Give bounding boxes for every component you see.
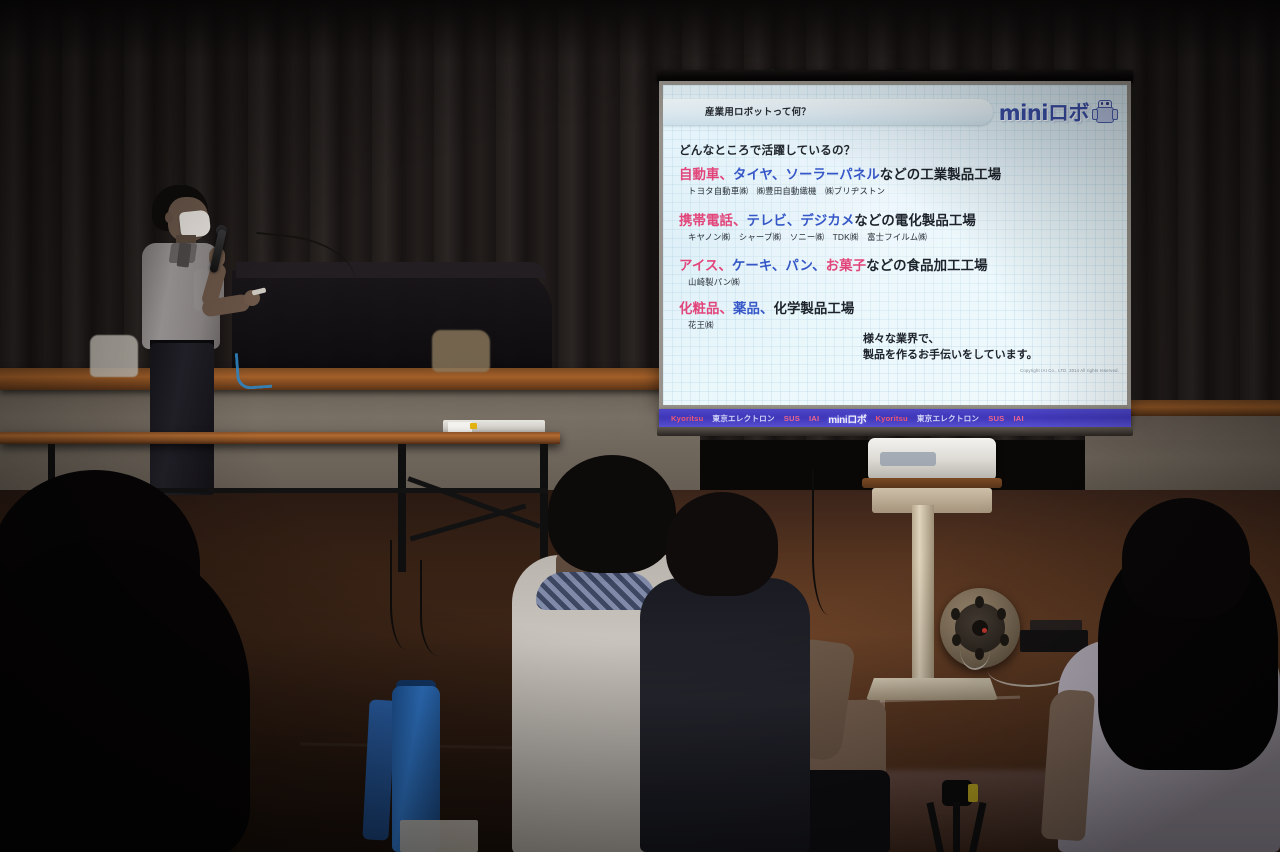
student-head-center-right: [666, 492, 778, 596]
student-neck-towel: [536, 572, 656, 610]
screen-frame: 産業用ロボットって何？ miniロボ どんなところで活躍しているの？: [659, 81, 1131, 409]
slide-closing-note: 様々な業界で、 製品を作るお手伝いをしています。: [863, 332, 1038, 364]
heading-4-dark: 化学製品工場: [773, 301, 854, 316]
heading-1-dark: などの工業製品工場: [880, 167, 1001, 182]
heading-2-red: 携帯電話、: [679, 213, 746, 228]
heading-2-dark: などの電化製品工場: [854, 213, 975, 228]
sponsor-logo-kyoritsu-2: Kyoritsu: [875, 414, 907, 423]
heading-4-red: 化粧品、: [679, 301, 733, 316]
tripod-leg-1: [926, 802, 944, 852]
camera-tripod: [918, 780, 994, 852]
projector-cable: [812, 470, 854, 615]
note-line-1: 様々な業界で、: [863, 332, 1038, 348]
heading-2-blue: テレビ、デジカメ: [746, 213, 854, 228]
sponsor-logo-sus: SUS: [784, 414, 800, 423]
sponsor-logo-iai-2: IAI: [1013, 414, 1023, 423]
heading-3-dark: などの食品加工工場: [866, 258, 987, 273]
student-head-center-left: [548, 455, 676, 573]
tripod-leg-3: [968, 802, 986, 852]
student-shirt-center-right: [640, 578, 810, 852]
floor-cable-left-2: [420, 560, 468, 656]
section-heading-2: 携帯電話、テレビ、デジカメなどの電化製品工場: [679, 209, 976, 229]
projector-lens-panel: [880, 452, 936, 466]
heading-4-blue: 薬品、: [733, 301, 773, 316]
curtain-top-shadow: [0, 0, 1280, 60]
laptop-sticker: [470, 423, 477, 429]
robot-mascot-icon: [1091, 99, 1117, 125]
heading-3-red: アイス、: [679, 258, 732, 273]
projector-stand-column: [912, 505, 934, 690]
laptop-label: [448, 422, 472, 432]
white-power-cable-2: [960, 630, 990, 670]
section-companies-1: トヨタ自動車㈱ ㈱豊田自動織機 ㈱ブリヂストン: [688, 185, 885, 197]
brand-wordmark: miniロボ: [999, 97, 1089, 127]
white-power-cable: [988, 655, 1070, 687]
screen-bottom-edge: [657, 427, 1133, 436]
table-leg-right: [540, 444, 548, 562]
presenter-trousers: [150, 343, 214, 495]
section-heading-4: 化粧品、薬品、化学製品工場: [679, 297, 854, 317]
sponsor-logo-sus-2: SUS: [988, 414, 1004, 423]
section-heading-1: 自動車、タイヤ、ソーラーパネルなどの工業製品工場: [679, 163, 1001, 183]
presenter-ear: [165, 212, 173, 223]
projection-screen: 産業用ロボットって何？ miniロボ どんなところで活躍しているの？: [651, 70, 1139, 440]
reel-hole-6: [951, 608, 960, 620]
heading-1-blue: タイヤ、ソーラーパネル: [733, 167, 880, 182]
sponsor-logo-kyoritsu: Kyoritsu: [671, 414, 703, 423]
sponsor-logo-minirobo: miniロボ: [828, 411, 866, 426]
bag-on-stage-2: [432, 330, 490, 372]
heading-3-red-2: お菓子: [826, 258, 866, 273]
folding-table: [0, 432, 560, 444]
sponsor-logo-bar: Kyoritsu 東京エレクトロン SUS IAI miniロボ Kyorits…: [659, 409, 1131, 428]
slide-question: どんなところで活躍しているの？: [679, 142, 856, 158]
minirobo-brand: miniロボ: [999, 97, 1117, 127]
section-companies-4: 花王㈱: [688, 319, 714, 331]
gymnasium-presentation-scene: 産業用ロボットって何？ miniロボ どんなところで活躍しているの？: [0, 0, 1280, 852]
student-head-right: [1122, 498, 1250, 618]
sponsor-logo-tel: 東京エレクトロン: [712, 413, 774, 424]
slide-header-title: 産業用ロボットって何？: [705, 104, 811, 118]
note-line-2: 製品を作るお手伝いをしています。: [863, 348, 1038, 364]
projector-stand-top: [862, 478, 1002, 488]
reel-hole-3: [1000, 634, 1009, 646]
slide-copyright: Copyright IAI Co., LTD. 2014 All rights …: [1020, 368, 1119, 373]
paper-on-floor: [400, 820, 478, 852]
heading-1-red: 自動車、: [679, 167, 733, 182]
presenter: [128, 185, 258, 525]
sponsor-logo-tel-2: 東京エレクトロン: [917, 413, 979, 424]
section-companies-2: キヤノン㈱ シャープ㈱ ソニー㈱ TDK㈱ 富士フイルム㈱: [688, 231, 927, 243]
sponsor-logo-iai: IAI: [809, 414, 819, 423]
tripod-accent: [968, 784, 978, 802]
presentation-slide: 産業用ロボットって何？ miniロボ どんなところで活躍しているの？: [663, 85, 1127, 405]
tripod-leg-2: [953, 802, 960, 852]
equipment-box: [1020, 630, 1088, 652]
reel-hole-1: [975, 596, 984, 608]
heading-3-blue: ケーキ、パン、: [732, 258, 826, 273]
section-heading-3: アイス、ケーキ、パン、お菓子などの食品加工工場: [679, 254, 988, 274]
section-companies-3: 山崎製パン㈱: [688, 276, 740, 288]
reel-hole-2: [997, 608, 1006, 620]
projector-stand-base: [866, 678, 998, 700]
